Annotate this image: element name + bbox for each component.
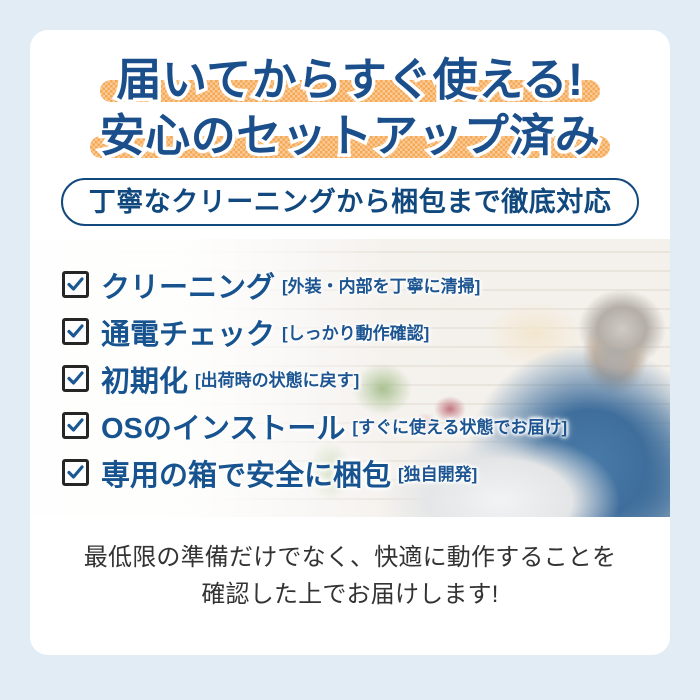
- headline-line-2: 安心のセットアップ済み: [30, 108, 670, 164]
- subtitle-block: 丁寧なクリーニングから梱包まで徹底対応: [30, 178, 670, 226]
- list-item: クリーニング [外装・内部を丁寧に清掃]: [62, 261, 567, 308]
- checklist-item-note: [しっかり動作確認]: [282, 319, 429, 344]
- checklist-item-label: 通電チェック: [101, 311, 275, 353]
- headline-text-1: 届いてからすぐ使える!: [117, 54, 584, 105]
- footer-line-1: 最低限の準備だけでなく、快適に動作することを: [30, 539, 670, 576]
- photo-band: クリーニング [外装・内部を丁寧に清掃] 通電チェック [しっかり動作確認]: [30, 239, 670, 517]
- footer-block: 最低限の準備だけでなく、快適に動作することを 確認した上でお届けします!: [30, 517, 670, 613]
- checklist-item-label: クリーニング: [101, 264, 275, 306]
- checkbox-checked-icon: [62, 271, 89, 298]
- list-item: 初期化 [出荷時の状態に戻す]: [62, 355, 567, 402]
- list-item: 専用の箱で安全に梱包 [独自開発]: [62, 449, 567, 496]
- subtitle-pill: 丁寧なクリーニングから梱包まで徹底対応: [61, 178, 640, 226]
- checklist-item-label: 初期化: [101, 358, 188, 400]
- headline-line-1: 届いてからすぐ使える!: [30, 52, 670, 108]
- checklist-item-note: [出荷時の状態に戻す]: [195, 366, 359, 391]
- promo-card: 届いてからすぐ使える! 安心のセットアップ済み 丁寧なクリーニングから梱包まで徹…: [30, 30, 670, 655]
- checklist-item-note: [すぐに使える状態でお届け]: [352, 413, 567, 438]
- checkbox-checked-icon: [62, 365, 89, 392]
- checklist-item-note: [外装・内部を丁寧に清掃]: [282, 272, 480, 297]
- footer-line-2: 確認した上でお届けします!: [30, 576, 670, 613]
- checkbox-checked-icon: [62, 318, 89, 345]
- list-item: OSのインストール [すぐに使える状態でお届け]: [62, 402, 567, 449]
- checkbox-checked-icon: [62, 459, 89, 486]
- list-item: 通電チェック [しっかり動作確認]: [62, 308, 567, 355]
- checkbox-checked-icon: [62, 412, 89, 439]
- checklist-item-label: 専用の箱で安全に梱包: [101, 452, 391, 494]
- headline-text-2: 安心のセットアップ済み: [100, 110, 601, 161]
- checklist-item-note: [独自開発]: [398, 460, 477, 485]
- checklist-item-label: OSのインストール: [101, 405, 345, 447]
- checklist: クリーニング [外装・内部を丁寧に清掃] 通電チェック [しっかり動作確認]: [62, 261, 567, 496]
- headline-block: 届いてからすぐ使える! 安心のセットアップ済み: [30, 30, 670, 164]
